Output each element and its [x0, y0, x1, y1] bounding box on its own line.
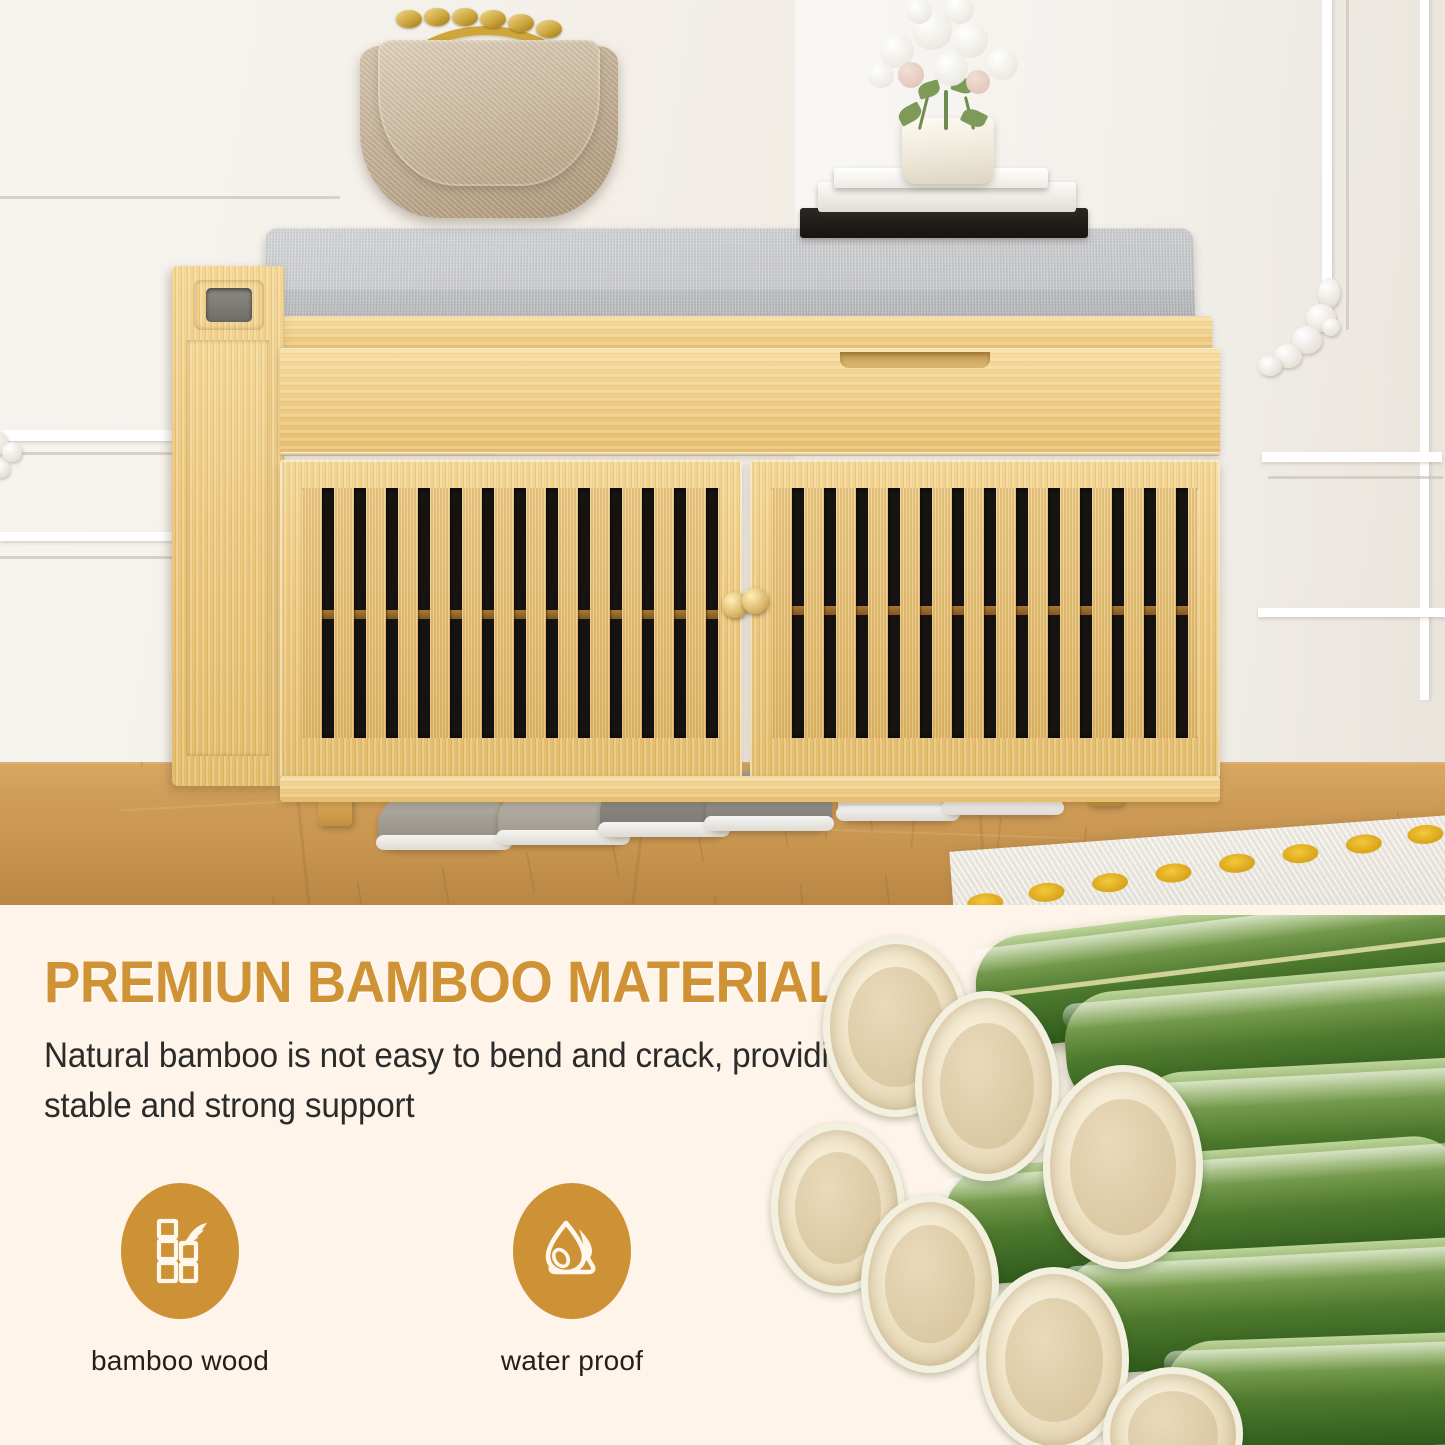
- wall-molding-vertical: [1322, 0, 1332, 300]
- bench-doors: [280, 460, 1220, 778]
- feature-label: water proof: [501, 1345, 643, 1377]
- panel-subcopy: Natural bamboo is not easy to bend and c…: [44, 1031, 880, 1130]
- bench-drawer[interactable]: [280, 348, 1220, 454]
- bench-side-panel: [172, 266, 284, 786]
- drawer-seam: [280, 452, 1220, 456]
- feature-water-proof: water proof: [492, 1183, 652, 1377]
- bamboo-culms-photo: [765, 915, 1445, 1445]
- shoe-storage-bench: [172, 228, 1262, 828]
- feature-label: bamboo wood: [91, 1345, 269, 1377]
- door-slats-left: [302, 488, 720, 738]
- bamboo-cut-end: [861, 1195, 999, 1373]
- door-knob-right[interactable]: [742, 588, 768, 614]
- wall-molding-line: [0, 196, 340, 199]
- cabinet-door-right[interactable]: [750, 460, 1220, 778]
- bench-bottom-rail: [280, 776, 1220, 802]
- drawer-pull-handle[interactable]: [840, 352, 990, 368]
- product-infographic: PREMIUN BAMBOO MATERIAL Natural bamboo i…: [0, 0, 1445, 1445]
- feature-badges: bamboo wood water proof: [100, 1183, 652, 1377]
- handbag: [338, 10, 630, 222]
- cabinet-door-left[interactable]: [280, 460, 742, 778]
- hero-photo: [0, 0, 1445, 905]
- material-panel: PREMIUN BAMBOO MATERIAL Natural bamboo i…: [0, 905, 1445, 1445]
- wall-molding-rail: [1262, 452, 1442, 462]
- wall-scroll-ornament: [1262, 272, 1372, 392]
- water-drop-icon: [535, 1215, 609, 1287]
- bamboo-stalk-icon: [145, 1215, 215, 1287]
- bag-flap: [378, 40, 600, 186]
- feature-icon-circle: [121, 1183, 239, 1319]
- vase: [902, 118, 994, 184]
- feature-icon-circle: [513, 1183, 631, 1319]
- wall-molding-rail: [1258, 608, 1445, 617]
- bamboo-cut-end: [915, 991, 1059, 1181]
- feature-bamboo-wood: bamboo wood: [100, 1183, 260, 1377]
- wall-scroll-ornament: [0, 412, 58, 508]
- wall-molding-line: [1268, 476, 1443, 479]
- book-black: [800, 208, 1088, 238]
- bamboo-cut-end: [1043, 1065, 1203, 1269]
- door-slats-right: [772, 488, 1198, 738]
- wall-molding-vertical: [1420, 0, 1429, 700]
- side-handle-cutout: [206, 288, 252, 322]
